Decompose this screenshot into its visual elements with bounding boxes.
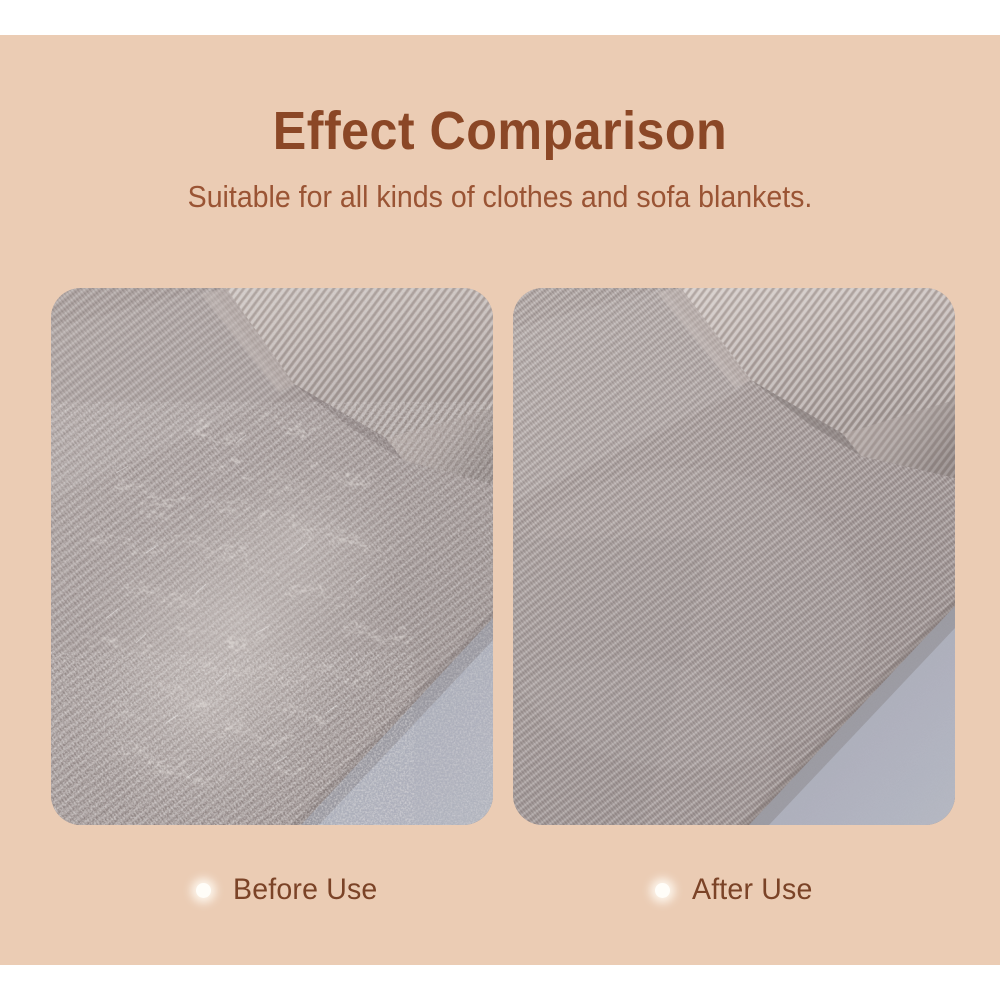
caption-label-after: After Use xyxy=(692,873,813,907)
fabric-photo-after-image xyxy=(513,288,955,825)
page-subtitle: Suitable for all kinds of clothes and so… xyxy=(40,160,960,215)
header-block: Effect Comparison Suitable for all kinds… xyxy=(0,35,1000,215)
dot-icon xyxy=(655,883,670,898)
caption-label-before: Before Use xyxy=(233,873,377,907)
photo-panel-after xyxy=(513,288,955,825)
page-title: Effect Comparison xyxy=(35,35,965,160)
dot-icon xyxy=(196,883,211,898)
caption-after-use: After Use xyxy=(655,867,819,913)
caption-before-use: Before Use xyxy=(196,867,385,913)
product-comparison-graphic: Effect Comparison Suitable for all kinds… xyxy=(0,0,1000,1000)
photo-panel-before xyxy=(51,288,493,825)
fabric-photo-before-image xyxy=(51,288,493,825)
